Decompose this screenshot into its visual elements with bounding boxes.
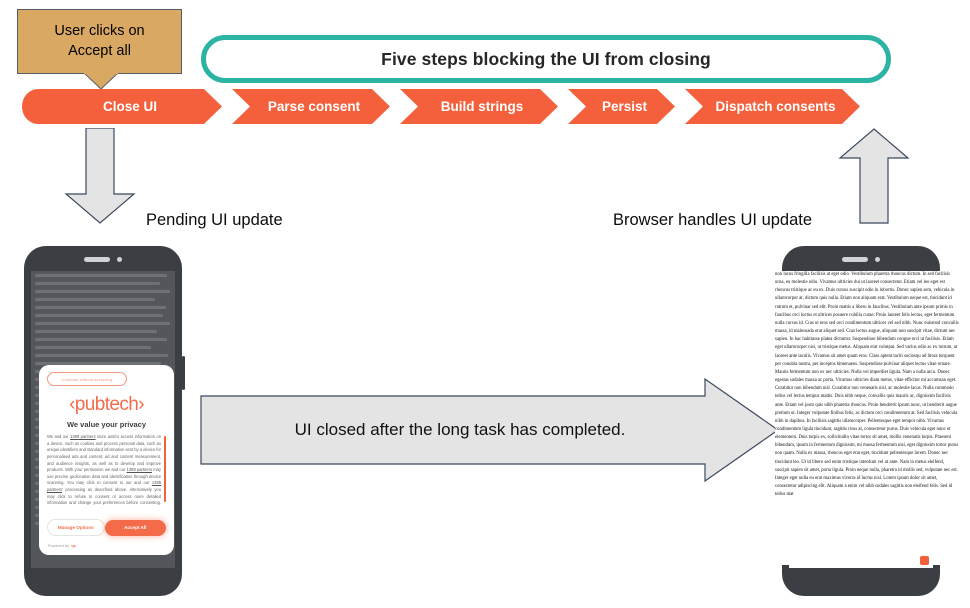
manage-options-button[interactable]: Manage Options (47, 519, 105, 536)
phone-camera-icon (875, 257, 880, 262)
phone-camera-icon (117, 257, 122, 262)
step-shape-2 (232, 89, 390, 124)
arrow-up-icon (836, 128, 912, 224)
continue-without-accepting-button[interactable]: Continue without accepting (47, 372, 127, 386)
phone-mockup-left: Continue without accepting ‹pubtech› We … (24, 246, 182, 596)
phone-speaker-icon (84, 257, 110, 262)
pubtech-mark-icon: ‹p› (71, 543, 76, 548)
powered-by-label: Powered by (48, 543, 69, 548)
callout-line-1: User clicks on (54, 22, 144, 42)
step-chevron-bar: Close UI Parse consent Build strings Per… (22, 89, 892, 124)
phone-screen-left: Continue without accepting ‹pubtech› We … (31, 271, 175, 568)
article-body-text: non lacus fringilla facilisis at eget od… (775, 271, 959, 565)
accept-all-button[interactable]: Accept All (105, 520, 166, 536)
callout-line-2: Accept all (54, 42, 144, 62)
powered-by-footer: Powered by ‹p› (48, 543, 76, 548)
step-shape-1 (22, 89, 222, 124)
consent-body-text: We and our 1389 partners store and/or ac… (47, 434, 166, 506)
step-shape-5 (685, 89, 860, 124)
label-pending-ui-update: Pending UI update (146, 211, 283, 230)
consent-button-row: Manage Options Accept All (47, 519, 166, 536)
banner-five-steps: Five steps blocking the UI from closing (201, 35, 891, 83)
consent-title: We value your privacy (47, 420, 166, 429)
floating-badge[interactable] (920, 556, 929, 565)
phone-side-button (182, 356, 185, 390)
arrow-down-icon (62, 128, 138, 224)
phone-speaker-icon (842, 257, 868, 262)
phone-mockup-right: non lacus fringilla facilisis at eget od… (782, 246, 940, 596)
consent-dialog: Continue without accepting ‹pubtech› We … (39, 365, 174, 555)
arrow-right-icon (200, 378, 780, 482)
label-browser-handles-ui-update: Browser handles UI update (613, 211, 812, 230)
phone-screen-right: non lacus fringilla facilisis at eget od… (789, 271, 933, 568)
consent-body-scroll-area[interactable]: We and our 1389 partners store and/or ac… (47, 434, 166, 506)
step-shape-4 (568, 89, 675, 124)
callout-tail-icon (84, 73, 118, 89)
callout-user-clicks: User clicks on Accept all (17, 9, 182, 74)
banner-title: Five steps blocking the UI from closing (381, 49, 711, 70)
scrollbar-thumb[interactable] (164, 436, 166, 502)
pubtech-logo: ‹pubtech› (47, 394, 166, 416)
step-shape-3 (400, 89, 558, 124)
